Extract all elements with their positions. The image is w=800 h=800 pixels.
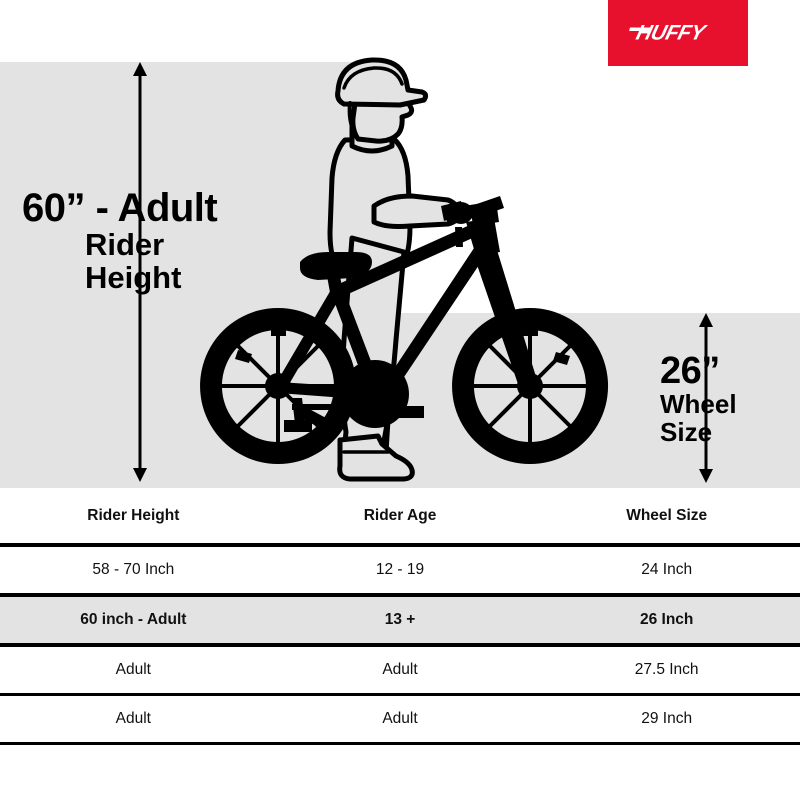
column-header-rider-height: Rider Height bbox=[0, 507, 267, 525]
rider-height-callout: 60” - Adult Rider Height bbox=[22, 188, 217, 295]
wheel-size-label-line2: Size bbox=[660, 418, 737, 446]
rider-height-label-line2: Height bbox=[85, 261, 217, 294]
column-header-wheel-size: Wheel Size bbox=[533, 507, 800, 525]
cell-wheel-size: 27.5 Inch bbox=[533, 661, 800, 679]
table-row: Adult Adult 27.5 Inch bbox=[0, 647, 800, 693]
wheel-size-value: 26” bbox=[660, 352, 737, 390]
svg-text:HUFFY: HUFFY bbox=[634, 21, 710, 45]
cell-rider-age: Adult bbox=[267, 710, 534, 728]
wheel-size-label-line1: Wheel bbox=[660, 390, 737, 418]
cell-rider-age: 13 + bbox=[267, 611, 534, 629]
column-header-rider-age: Rider Age bbox=[267, 507, 534, 525]
table-row: Adult Adult 29 Inch bbox=[0, 696, 800, 742]
cell-rider-height: 60 inch - Adult bbox=[0, 611, 267, 629]
table-row: 58 - 70 Inch 12 - 19 24 Inch bbox=[0, 547, 800, 593]
table-row-highlighted: 60 inch - Adult 13 + 26 Inch bbox=[0, 597, 800, 643]
table-divider bbox=[0, 742, 800, 745]
bike-size-table: Rider Height Rider Age Wheel Size 58 - 7… bbox=[0, 488, 800, 745]
cell-wheel-size: 29 Inch bbox=[533, 710, 800, 728]
cell-wheel-size: 24 Inch bbox=[533, 561, 800, 579]
cell-rider-height: Adult bbox=[0, 710, 267, 728]
table-header-row: Rider Height Rider Age Wheel Size bbox=[0, 488, 800, 543]
cell-rider-height: 58 - 70 Inch bbox=[0, 561, 267, 579]
cell-rider-age: Adult bbox=[267, 661, 534, 679]
huffy-logo: HUFFY bbox=[608, 0, 748, 66]
rider-height-value: 60” - Adult bbox=[22, 188, 217, 228]
hero-illustration-area: 60” - Adult Rider Height 26” Wheel Size bbox=[0, 0, 800, 488]
bike-size-chart-page: 60” - Adult Rider Height 26” Wheel Size … bbox=[0, 0, 800, 800]
rider-height-label-line1: Rider bbox=[85, 228, 217, 261]
cell-wheel-size: 26 Inch bbox=[533, 611, 800, 629]
cell-rider-height: Adult bbox=[0, 661, 267, 679]
huffy-wordmark-logo: HUFFY bbox=[618, 13, 738, 53]
wheel-size-callout: 26” Wheel Size bbox=[660, 352, 737, 446]
cell-rider-age: 12 - 19 bbox=[267, 561, 534, 579]
